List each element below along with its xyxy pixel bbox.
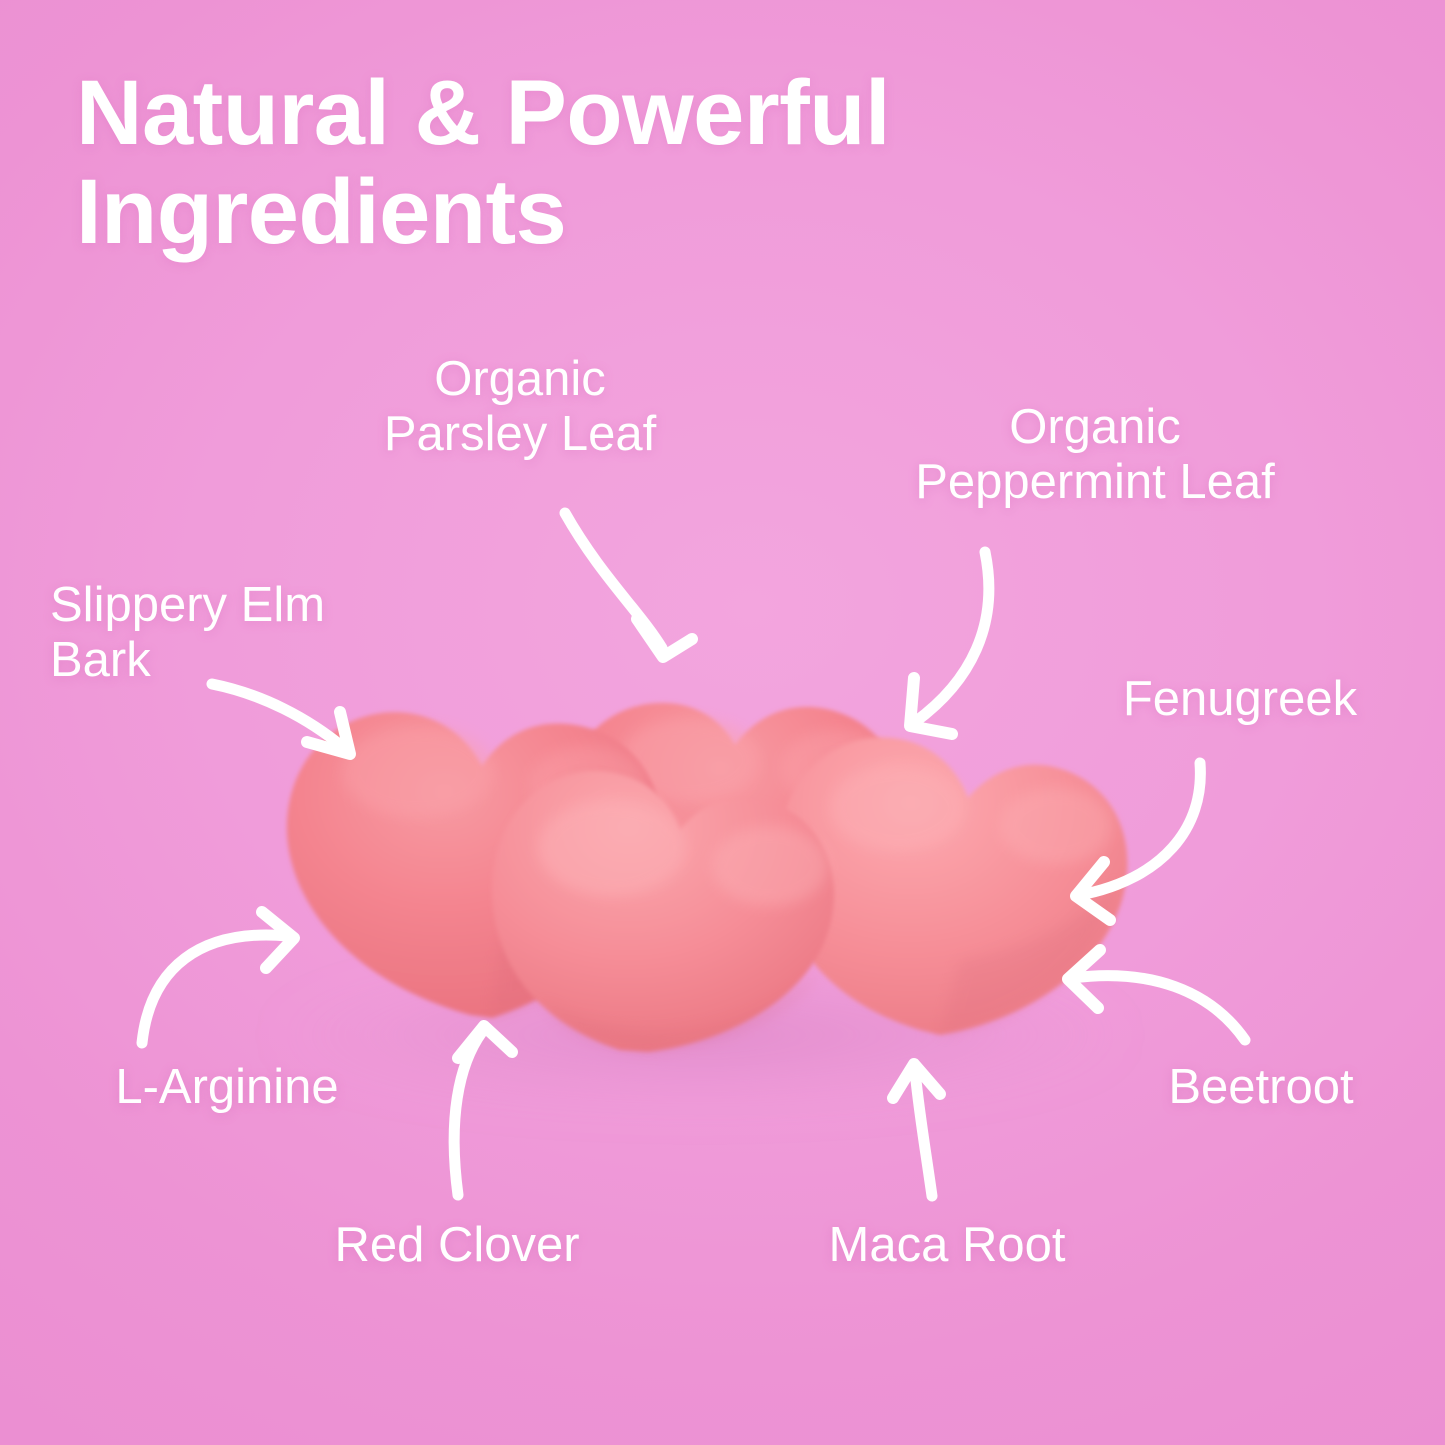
callout-label-fenugreek: Fenugreek bbox=[1080, 672, 1400, 727]
callout-label-maca-root: Maca Root bbox=[782, 1218, 1112, 1273]
arrow-red-clover bbox=[454, 1026, 512, 1195]
arrow-peppermint bbox=[910, 552, 989, 734]
ingredients-infographic: Natural & Powerful Ingredients bbox=[0, 0, 1445, 1445]
page-title: Natural & Powerful Ingredients bbox=[76, 64, 1076, 263]
callout-label-beetroot: Beetroot bbox=[1106, 1060, 1416, 1115]
callout-label-parsley: Organic Parsley Leaf bbox=[330, 352, 710, 463]
arrow-maca-root bbox=[893, 1064, 940, 1196]
gummy-heart-back-center bbox=[565, 703, 903, 1000]
arrow-parsley bbox=[565, 513, 692, 657]
callout-label-peppermint: Organic Peppermint Leaf bbox=[830, 400, 1360, 511]
arrow-slippery-elm-bark bbox=[212, 684, 350, 754]
callout-label-red-clover: Red Clover bbox=[292, 1218, 622, 1273]
gummy-ground-shadow bbox=[270, 963, 1130, 1107]
callout-label-l-arginine: L-Arginine bbox=[62, 1060, 392, 1115]
gummy-heart-left bbox=[287, 712, 661, 1018]
arrow-l-arginine bbox=[142, 912, 294, 1043]
gummy-heart-right bbox=[778, 738, 1128, 1035]
arrow-fenugreek bbox=[1076, 763, 1200, 920]
callout-label-slippery-elm-bark: Slippery Elm Bark bbox=[50, 578, 450, 689]
gummy-heart-front-center bbox=[492, 771, 834, 1052]
arrow-beetroot bbox=[1068, 950, 1245, 1040]
